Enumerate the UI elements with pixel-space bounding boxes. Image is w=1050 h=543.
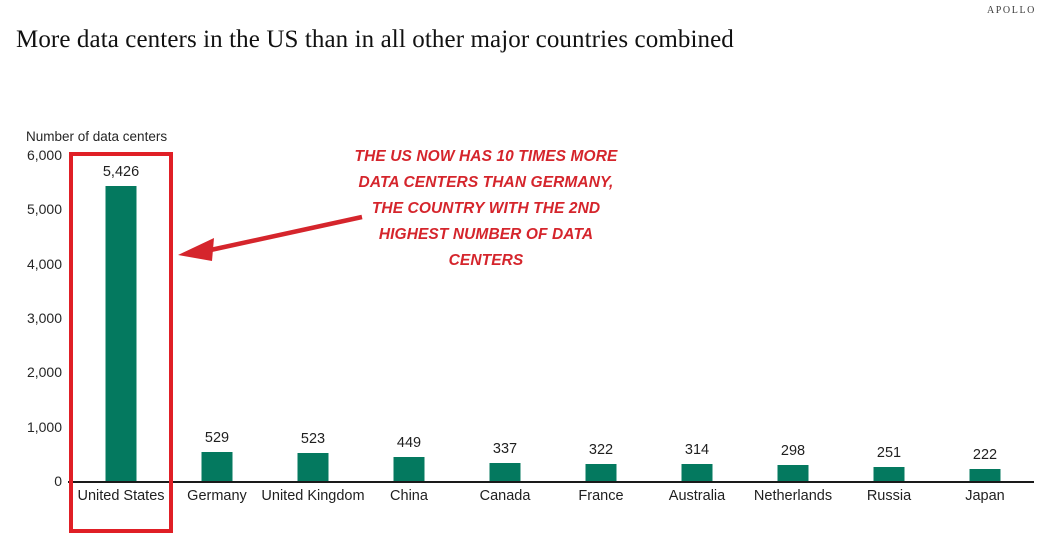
- x-axis-category-label: China: [354, 487, 464, 506]
- y-axis-tick-label: 0: [0, 473, 62, 489]
- x-axis-line: [68, 481, 1034, 483]
- chart-page: APOLLO More data centers in the US than …: [0, 0, 1050, 543]
- bar-group: 5,426: [73, 141, 169, 481]
- bar-value-label: 222: [973, 447, 997, 463]
- bar[interactable]: [490, 463, 521, 481]
- bar-value-label: 523: [301, 431, 325, 447]
- x-axis-category-label: Germany: [162, 487, 272, 506]
- y-axis-tick-label: 4,000: [0, 256, 62, 272]
- y-axis-tick-label: 6,000: [0, 147, 62, 163]
- bar-group: 298: [745, 141, 841, 481]
- bar-group: 529: [169, 141, 265, 481]
- y-axis-tick-label: 5,000: [0, 201, 62, 217]
- bar-value-label: 322: [589, 442, 613, 458]
- bar[interactable]: [298, 453, 329, 481]
- bar-value-label: 251: [877, 445, 901, 461]
- bar-value-label: 298: [781, 443, 805, 459]
- bar[interactable]: [874, 467, 905, 481]
- y-axis-tick-label: 2,000: [0, 364, 62, 380]
- bar-value-label: 337: [493, 441, 517, 457]
- bar-value-label: 314: [685, 442, 709, 458]
- y-axis-tick-label: 3,000: [0, 310, 62, 326]
- bar-group: 523: [265, 141, 361, 481]
- x-axis-category-label: United Kingdom: [258, 487, 368, 506]
- x-axis-category-label: France: [546, 487, 656, 506]
- x-axis-category-label: Russia: [834, 487, 944, 506]
- x-axis-category-label: Netherlands: [738, 487, 848, 506]
- bar[interactable]: [778, 465, 809, 481]
- bar-group: 251: [841, 141, 937, 481]
- bar[interactable]: [106, 186, 137, 481]
- y-axis-tick-label: 1,000: [0, 419, 62, 435]
- bar-value-label: 5,426: [103, 164, 139, 180]
- x-axis-category-label: Australia: [642, 487, 752, 506]
- x-axis-category-label: Japan: [930, 487, 1040, 506]
- bar[interactable]: [586, 464, 617, 481]
- x-axis-category-label: United States: [66, 487, 176, 506]
- bar-value-label: 449: [397, 435, 421, 451]
- bar[interactable]: [202, 452, 233, 481]
- x-axis-category-label: Canada: [450, 487, 560, 506]
- bar[interactable]: [970, 469, 1001, 481]
- bar-group: 314: [649, 141, 745, 481]
- bar-group: 222: [937, 141, 1033, 481]
- annotation-callout: THE US NOW HAS 10 TIMES MORE DATA CENTER…: [349, 144, 623, 274]
- bar[interactable]: [394, 457, 425, 481]
- bar-value-label: 529: [205, 430, 229, 446]
- bar[interactable]: [682, 464, 713, 481]
- bar-chart-plot: Number of data centers 6,0005,0004,0003,…: [0, 0, 1050, 543]
